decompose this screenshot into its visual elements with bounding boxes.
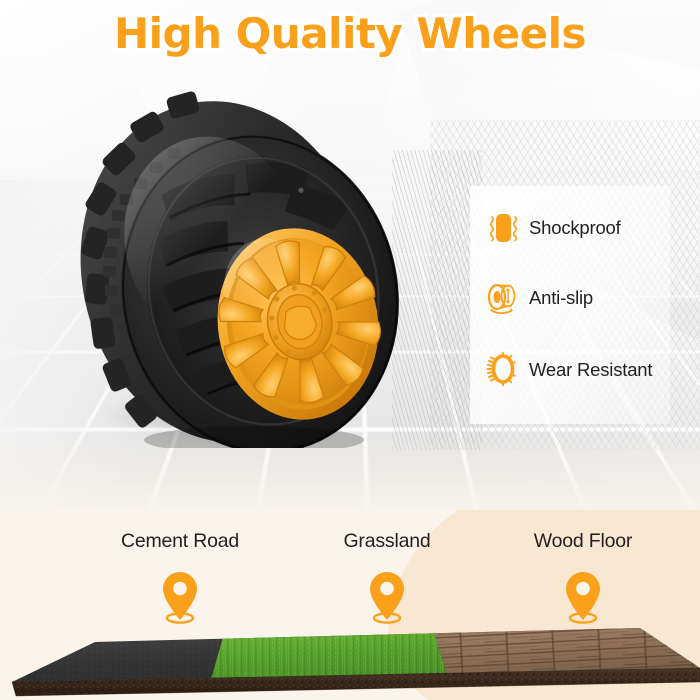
features-panel: Shockproof Anti-slip xyxy=(470,186,670,424)
surface-platform-slab xyxy=(0,620,700,700)
feature-label: Shockproof xyxy=(529,217,621,239)
feature-item-shockproof: Shockproof xyxy=(486,210,621,246)
wear-resistant-tire-tread-icon xyxy=(486,352,520,388)
feature-label: Wear Resistant xyxy=(529,359,652,381)
map-pin-icon xyxy=(160,570,200,626)
map-pin-icon xyxy=(367,570,407,626)
shockproof-vibration-icon xyxy=(486,210,520,246)
infographic-canvas: High Quality Wheels xyxy=(0,0,700,700)
surface-label: Wood Floor xyxy=(534,530,632,553)
map-pin-icon xyxy=(563,570,603,626)
feature-item-anti-slip: Anti-slip xyxy=(486,280,593,316)
page-title: High Quality Wheels xyxy=(0,9,700,58)
feature-label: Anti-slip xyxy=(529,287,593,309)
surface-label: Cement Road xyxy=(121,530,239,553)
feature-item-wear-resistant: Wear Resistant xyxy=(486,352,652,388)
anti-slip-tire-roll-icon xyxy=(486,280,520,316)
surface-label: Grassland xyxy=(343,530,430,553)
product-wheel-image xyxy=(74,82,418,448)
